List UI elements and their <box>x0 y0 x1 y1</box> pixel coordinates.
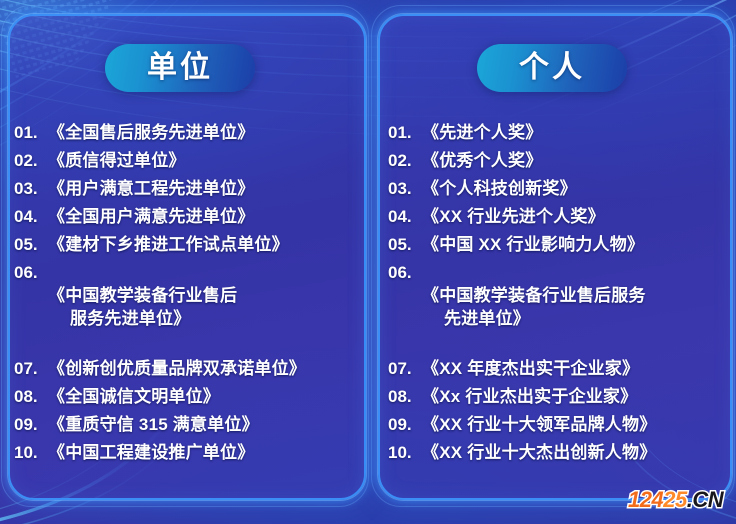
list-item: 01. 《全国售后服务先进单位》 <box>14 122 354 145</box>
list-item: 10. 《中国工程建设推广单位》 <box>14 442 354 465</box>
list-item-label: 《Xx 行业杰出实于企业家》 <box>422 386 637 409</box>
award-list-individual: 01. 《先进个人奖》 02. 《优秀个人奖》 03. 《个人科技创新奖》 04… <box>388 122 724 470</box>
list-item-label: 《中国工程建设推广单位》 <box>48 442 254 465</box>
list-item-index: 10. <box>388 442 422 465</box>
list-item-index: 03. <box>14 178 48 201</box>
list-item-index: 05. <box>14 234 48 257</box>
list-item-index: 08. <box>388 386 422 409</box>
list-item-label: 《中国教学装备行业售后服务 先进单位》 <box>422 262 646 354</box>
list-item: 01. 《先进个人奖》 <box>388 122 724 145</box>
list-item: 07. 《创新创优质量品牌双承诺单位》 <box>14 358 354 381</box>
site-watermark: 12425.CN <box>628 489 723 511</box>
list-item-label: 《质信得过单位》 <box>48 150 186 173</box>
poster-canvas: 单位 01. 《全国售后服务先进单位》 02. 《质信得过单位》 03. 《用户… <box>0 0 736 524</box>
list-item: 04. 《XX 行业先进个人奖》 <box>388 206 724 229</box>
list-item: 10. 《XX 行业十大杰出创新人物》 <box>388 442 724 465</box>
list-item-index: 09. <box>388 414 422 437</box>
list-item-label: 《用户满意工程先进单位》 <box>48 178 254 201</box>
list-item: 06. 《中国教学装备行业售后 服务先进单位》 <box>14 262 354 354</box>
list-item-label: 《先进个人奖》 <box>422 122 542 145</box>
list-item-label: 《XX 行业十大杰出创新人物》 <box>422 442 656 465</box>
list-item-index: 03. <box>388 178 422 201</box>
list-item: 02. 《优秀个人奖》 <box>388 150 724 173</box>
list-item-label: 《XX 行业十大领军品牌人物》 <box>422 414 656 437</box>
list-item-index: 06. <box>14 262 48 285</box>
list-item-index: 05. <box>388 234 422 257</box>
list-item: 03. 《个人科技创新奖》 <box>388 178 724 201</box>
panel-heading-pill-unit: 单位 <box>105 44 255 92</box>
list-item-label-line1: 《中国教学装备行业售后 <box>48 286 237 305</box>
list-item: 09. 《重质守信 315 满意单位》 <box>14 414 354 437</box>
list-item-label-line2: 服务先进单位》 <box>48 308 237 331</box>
list-item: 05. 《中国 XX 行业影响力人物》 <box>388 234 724 257</box>
list-item-label-line2: 先进单位》 <box>422 308 646 331</box>
list-item-index: 08. <box>14 386 48 409</box>
list-item: 08. 《全国诚信文明单位》 <box>14 386 354 409</box>
list-item-label-line1: 《中国教学装备行业售后服务 <box>422 286 646 305</box>
panel-heading-label-unit: 单位 <box>147 53 213 83</box>
list-item-index: 06. <box>388 262 422 285</box>
list-item-label: 《重质守信 315 满意单位》 <box>48 414 259 437</box>
watermark-domain-suffix: .CN <box>687 487 723 512</box>
list-item: 04. 《全国用户满意先进单位》 <box>14 206 354 229</box>
list-item-label: 《创新创优质量品牌双承诺单位》 <box>48 358 306 381</box>
list-item-label: 《中国教学装备行业售后 服务先进单位》 <box>48 262 237 354</box>
list-item-label: 《个人科技创新奖》 <box>422 178 577 201</box>
list-item: 08. 《Xx 行业杰出实于企业家》 <box>388 386 724 409</box>
list-item-index: 02. <box>14 150 48 173</box>
list-item-index: 07. <box>388 358 422 381</box>
list-item-index: 01. <box>14 122 48 145</box>
list-item: 02. 《质信得过单位》 <box>14 150 354 173</box>
list-item-index: 02. <box>388 150 422 173</box>
list-item-label: 《XX 年度杰出实干企业家》 <box>422 358 639 381</box>
list-item: 09. 《XX 行业十大领军品牌人物》 <box>388 414 724 437</box>
list-item-index: 07. <box>14 358 48 381</box>
watermark-part-one: 124 <box>628 487 663 512</box>
award-list-unit: 01. 《全国售后服务先进单位》 02. 《质信得过单位》 03. 《用户满意工… <box>14 122 354 470</box>
list-item-label: 《全国用户满意先进单位》 <box>48 206 254 229</box>
list-item-index: 09. <box>14 414 48 437</box>
list-item: 05. 《建材下乡推进工作试点单位》 <box>14 234 354 257</box>
list-item-index: 01. <box>388 122 422 145</box>
list-item: 07. 《XX 年度杰出实干企业家》 <box>388 358 724 381</box>
watermark-part-two: 25 <box>663 487 686 512</box>
panel-heading-label-individual: 个人 <box>519 53 585 83</box>
panel-heading-pill-individual: 个人 <box>477 44 627 92</box>
list-item-label: 《建材下乡推进工作试点单位》 <box>48 234 289 257</box>
list-item-label: 《XX 行业先进个人奖》 <box>422 206 605 229</box>
list-item-label: 《优秀个人奖》 <box>422 150 542 173</box>
list-item-label: 《全国售后服务先进单位》 <box>48 122 254 145</box>
list-item-index: 04. <box>14 206 48 229</box>
list-item-index: 10. <box>14 442 48 465</box>
list-item: 06. 《中国教学装备行业售后服务 先进单位》 <box>388 262 724 354</box>
list-item-index: 04. <box>388 206 422 229</box>
list-item: 03. 《用户满意工程先进单位》 <box>14 178 354 201</box>
list-item-label: 《全国诚信文明单位》 <box>48 386 220 409</box>
list-item-label: 《中国 XX 行业影响力人物》 <box>422 234 644 257</box>
